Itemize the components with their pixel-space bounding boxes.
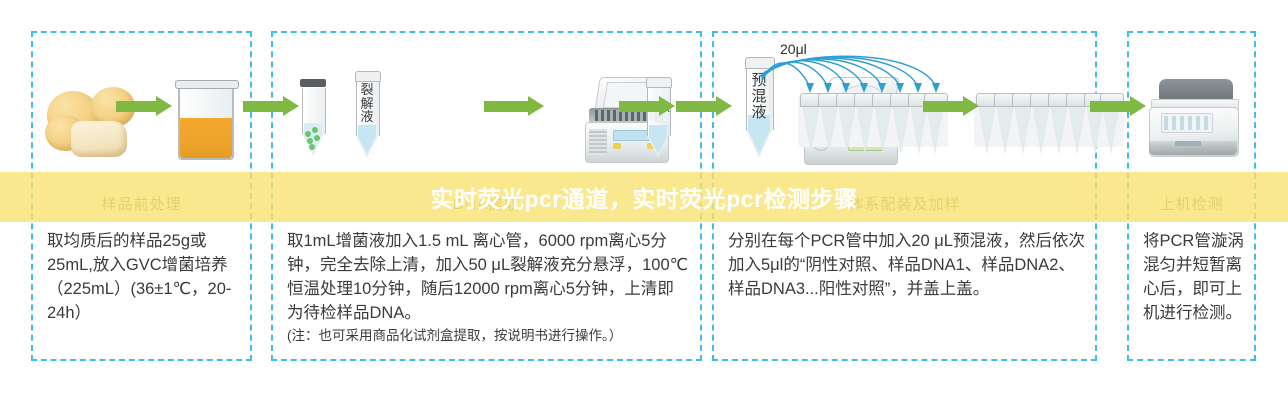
beaker-icon [175,78,237,160]
panel1-text: 取均质后的样品25g或25mL,放入GVC增菌培养（225mL）(36±1℃，2… [47,229,240,325]
flow-arrow-4-icon [619,96,675,116]
panel4-illustration [1129,33,1254,175]
tube-bacterial-culture-icon [299,79,327,157]
panel3-illustration: 预混液 20μl [714,33,1095,175]
flow-arrow-5-icon [676,96,732,116]
panel4-text: 将PCR管漩涡混匀并短暂离心后，即可上机进行检测。 [1143,229,1244,325]
flow-arrow-2-icon [243,96,299,116]
panel3-text: 分别在每个PCR管中加入20 μL预混液，然后依次加入5μl的“阴性对照、样品D… [728,229,1085,301]
pcr-workflow-diagram: 样品前处理 取均质后的样品25g或25mL,放入GVC增菌培养（225mL）(3… [0,0,1288,400]
cells-icon [305,127,321,149]
panel2-note: (注：也可采用商品化试剂盒提取，按说明书进行操作。） [287,326,690,346]
panel2-text: 取1mL增菌液加入1.5 mL 离心管，6000 rpm离心5分钟，完全去除上清… [287,229,690,347]
tube-lysis-buffer-label: 裂解液 [355,83,379,124]
tube-dna-icon: DNA [644,77,672,159]
flow-arrow-6-icon [923,96,979,116]
qpcr-instrument-icon [1147,75,1243,163]
tube-lysis-buffer-icon: 裂解液 [353,71,381,159]
flow-arrow-1-icon [116,96,172,116]
overlay-title: 实时荧光pcr通道，实时荧光pcr检测步骤 [0,172,1288,222]
panel2-text-main: 取1mL增菌液加入1.5 mL 离心管，6000 rpm离心5分钟，完全去除上清… [287,232,688,322]
flow-arrow-7-icon [1090,96,1146,116]
flow-arrow-3-icon [484,96,544,116]
